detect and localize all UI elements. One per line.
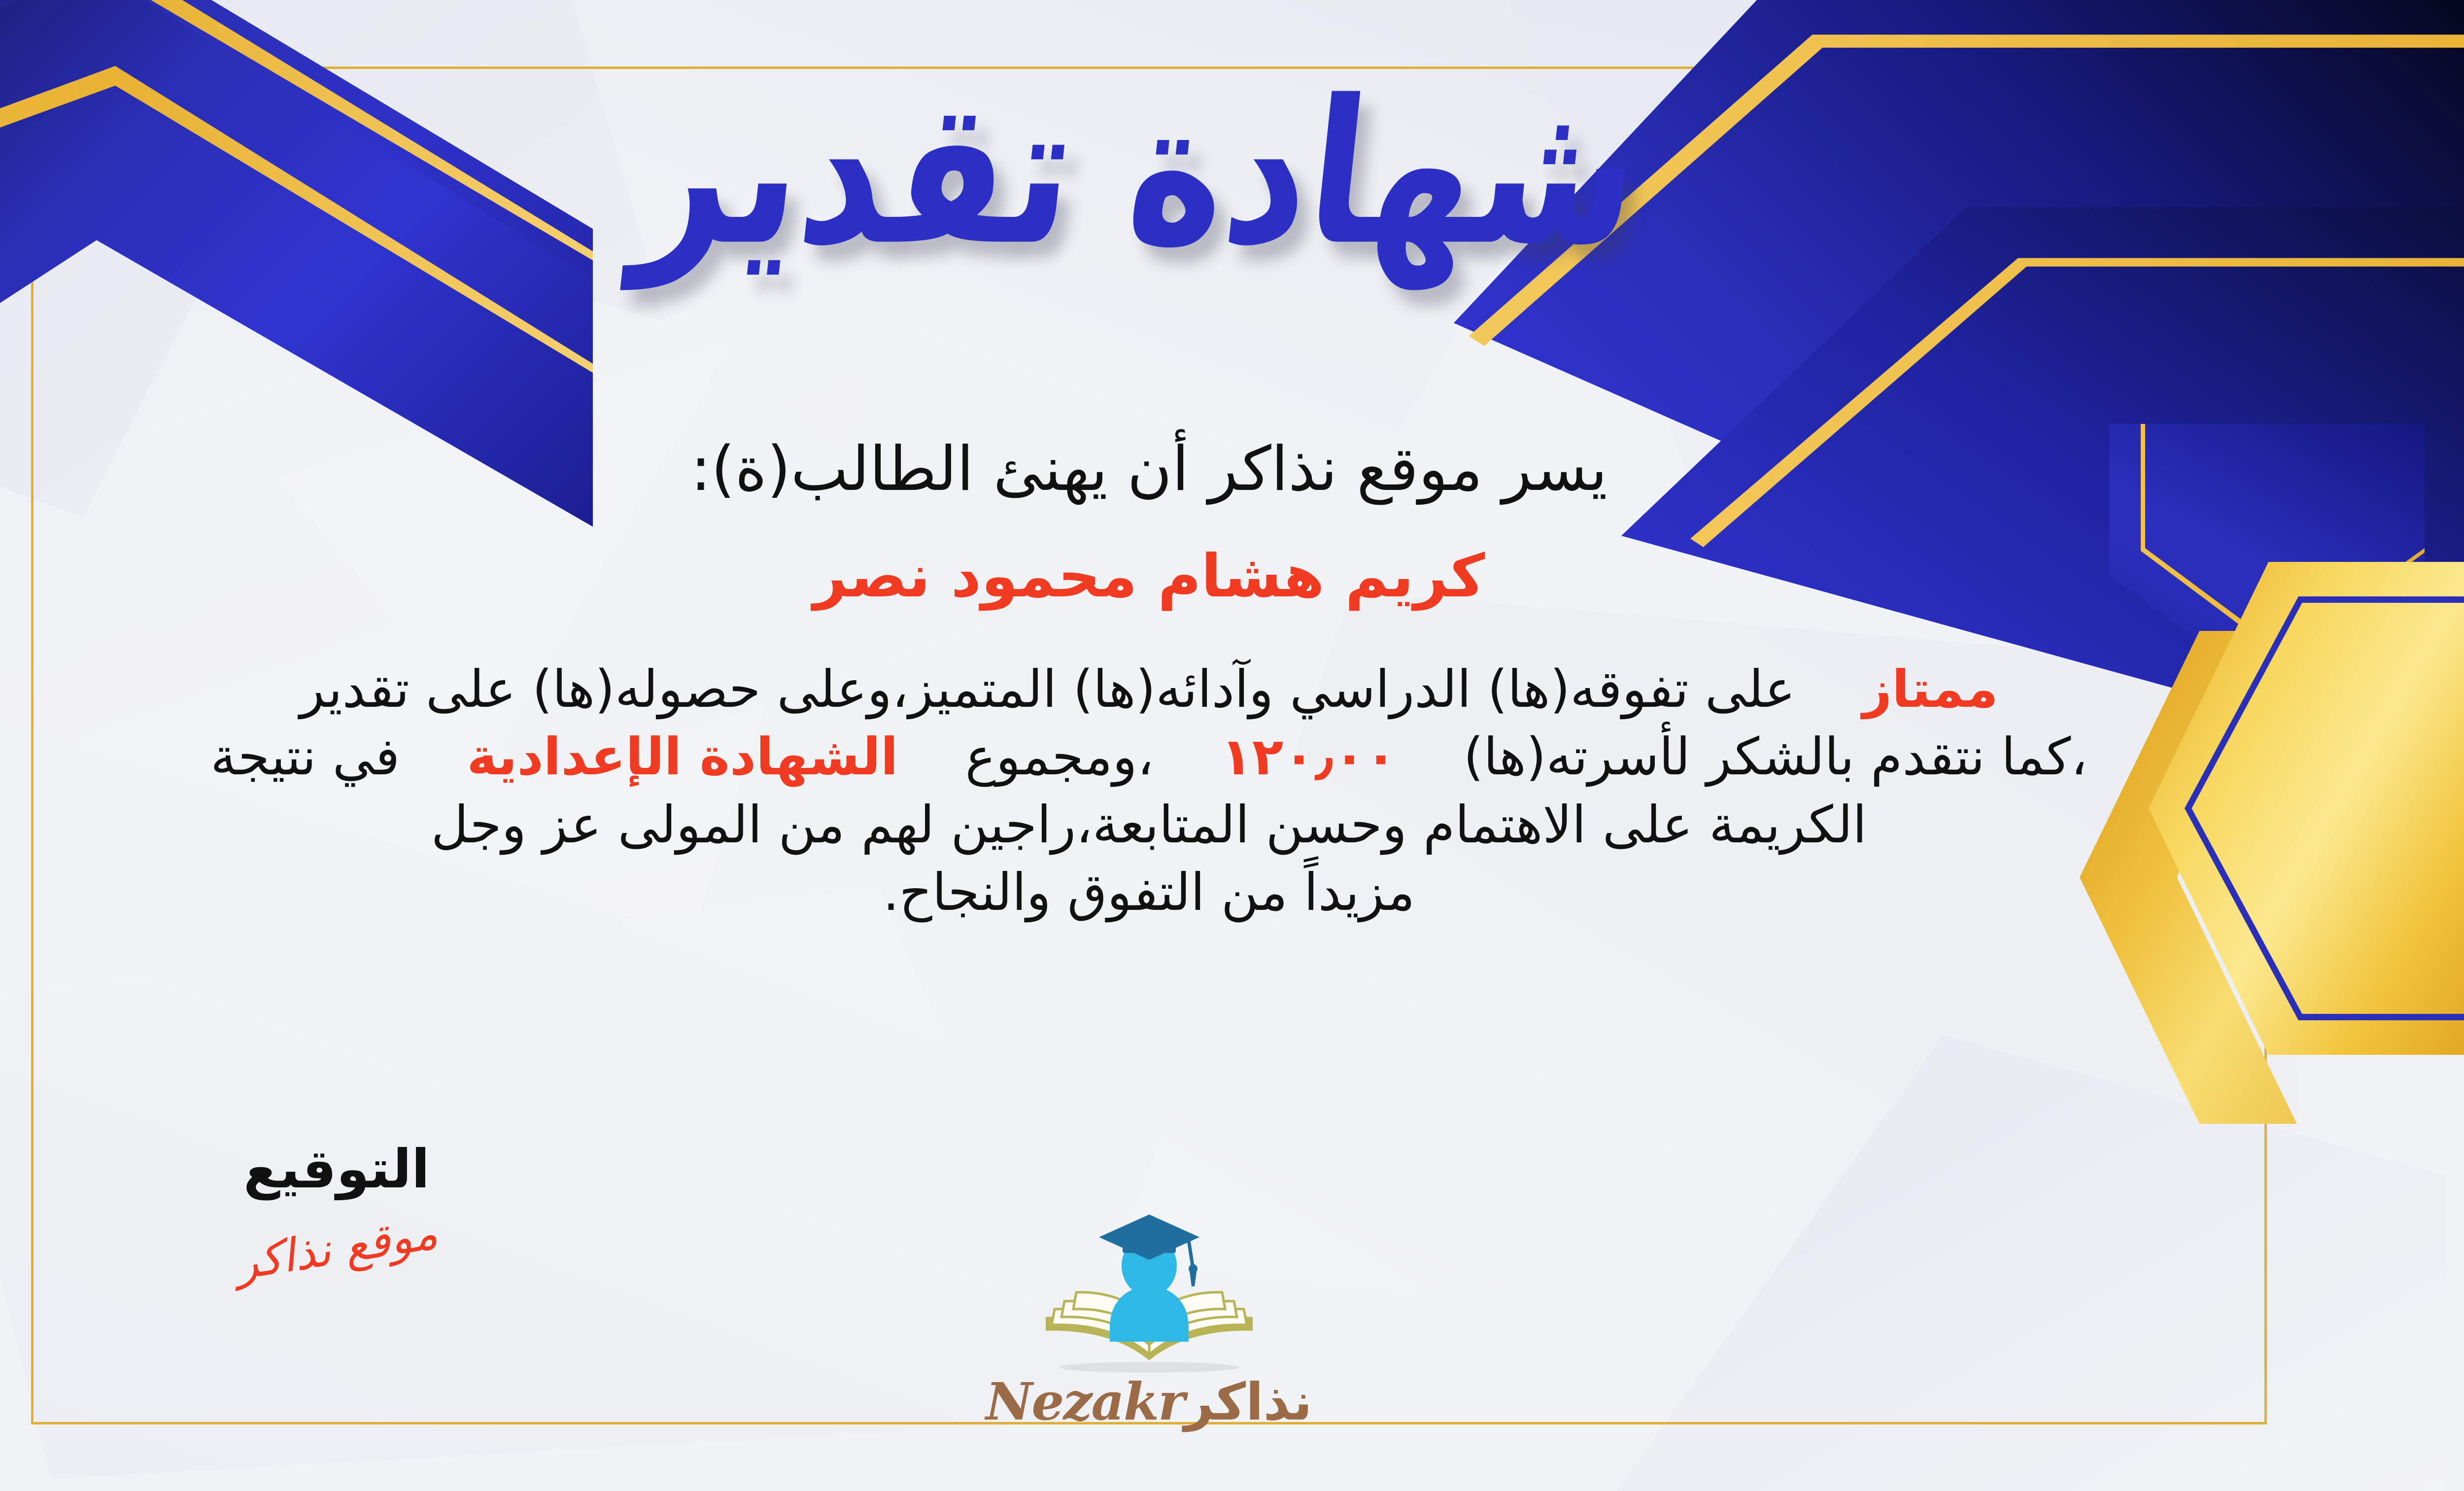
graduate-book-logo-icon [1026,1213,1272,1380]
signature-mark: موقع نذاكر [232,1206,442,1290]
total-value: ١٢٠٫٠٠ [1221,727,1396,787]
body-line-2: ،كما نتقدم بالشكر لأسرته(ها) ١٢٠٫٠٠ ،ومج… [41,723,2257,791]
signature-label: التوقيع [199,1139,475,1200]
intro-line: يسر موقع نذاكر أن يهنئ الطالب(ة): [0,434,2464,505]
body-line-4: مزيداً من التفوق والنجاح. [41,859,2257,926]
body-line-1: ممتاز على تفوقه(ها) الدراسي وآدائه(ها) ا… [41,656,2257,723]
grade-value: ممتاز [1862,659,1998,719]
student-name: كريم هشام محمود نصر [0,542,2464,611]
body-line-2-tail: ،كما نتقدم بالشكر لأسرته(ها) [1464,727,2088,787]
signature-block: التوقيع موقع نذاكر [199,1139,475,1275]
logo-latin: Nezakr [986,1371,1184,1432]
certificate-title: شهادة تقدير [0,74,2464,273]
certificate-content: شهادة تقدير يسر موقع نذاكر أن يهنئ الطال… [0,0,2464,1491]
body-line-3: الكريمة على الاهتمام وحسن المتابعة،راجين… [41,791,2257,859]
body-paragraph: ممتاز على تفوقه(ها) الدراسي وآدائه(ها) ا… [41,656,2257,926]
exam-name: الشهادة الإعدادية [467,727,898,787]
site-logo: نذاكرNezakr [962,1213,1336,1432]
certificate-canvas: شهادة تقدير يسر موقع نذاكر أن يهنئ الطال… [0,0,2464,1491]
logo-wordmark: نذاكرNezakr [962,1371,1336,1432]
body-line-2-mid: ،ومجموع [965,727,1154,787]
logo-arabic: نذاكر [1184,1372,1312,1432]
body-line-2-head: في نتيجة [210,727,400,787]
body-line-1-text: على تفوقه(ها) الدراسي وآدائه(ها) المتميز… [300,659,1795,719]
